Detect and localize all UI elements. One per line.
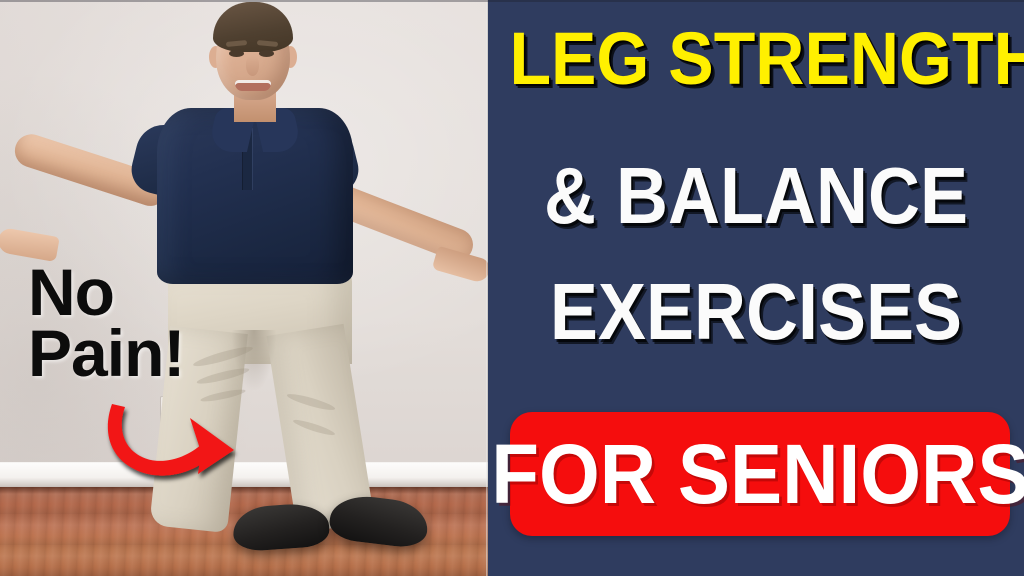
headline-line-2: & BALANCE [515,156,997,236]
polo-shirt [157,108,353,284]
right-hand [432,246,488,285]
video-thumbnail: No Pain! LEG STRENGTH & BALANCE EXERCISE… [0,0,1024,576]
right-shoe [328,492,431,550]
mouth [235,80,271,91]
right-eye [259,50,274,57]
left-shoe [232,502,331,553]
badge-label: FOR SENIORS [491,432,1024,516]
curved-arrow-icon [98,398,248,490]
left-eye [229,50,244,57]
no-pain-overlay-text: No Pain! [28,262,243,383]
headline-line-3: EXERCISES [515,272,997,352]
headline-line-1: LEG STRENGTH [509,22,1002,96]
hair [213,2,293,52]
for-seniors-badge: FOR SENIORS [510,412,1010,536]
nose [246,56,259,76]
top-edge-line [0,0,1024,2]
photo-panel: No Pain! [0,0,488,576]
text-panel: LEG STRENGTH & BALANCE EXERCISES FOR SEN… [488,0,1024,576]
